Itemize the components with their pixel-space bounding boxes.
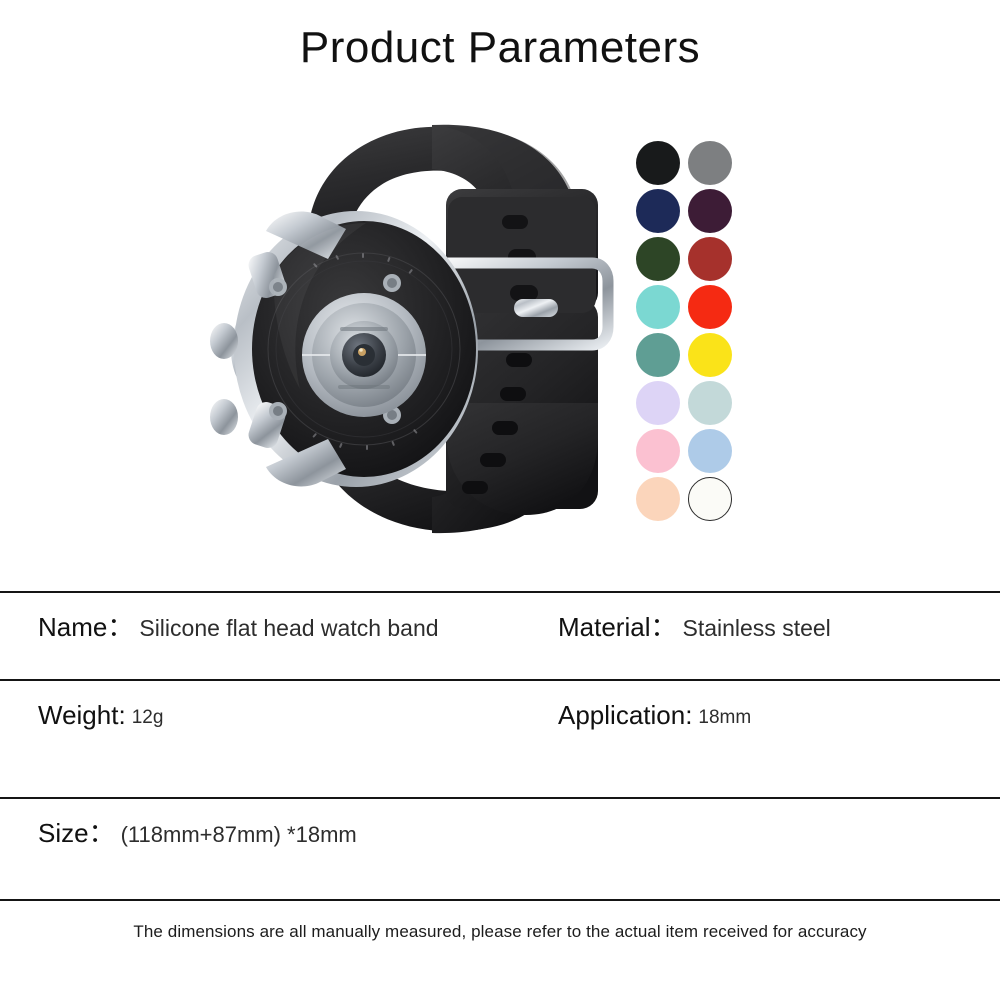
color-swatch-white[interactable]	[688, 477, 732, 521]
color-swatch-light-blue[interactable]	[688, 429, 732, 473]
spec-row: Size： (118mm+87mm) *18mm	[0, 817, 1000, 897]
color-swatch-lavender[interactable]	[636, 381, 680, 425]
color-swatch-turquoise[interactable]	[636, 285, 680, 329]
color-swatch-gray[interactable]	[688, 141, 732, 185]
color-swatch-dark-green[interactable]	[636, 237, 680, 281]
spec-label-name: Name：	[38, 611, 133, 644]
smartwatch-with-silicone-band-icon	[196, 103, 626, 553]
spec-value-name: Silicone flat head watch band	[139, 611, 438, 644]
spec-row: Name： Silicone flat head watch band Mate…	[0, 611, 1000, 677]
color-swatch-peach[interactable]	[636, 477, 680, 521]
color-swatch-bright-red[interactable]	[688, 285, 732, 329]
spec-table-divider-row2	[0, 797, 1000, 799]
color-swatch-dark-red[interactable]	[688, 237, 732, 281]
spec-value-weight: 12g	[132, 699, 164, 731]
spec-cell-application: Application: 18mm	[548, 699, 1000, 795]
spec-value-material: Stainless steel	[682, 611, 830, 644]
color-swatch-dark-purple[interactable]	[688, 189, 732, 233]
page-title: Product Parameters	[0, 22, 1000, 75]
spec-table-divider-row1	[0, 679, 1000, 681]
spec-cell-name: Name： Silicone flat head watch band	[0, 611, 548, 677]
color-swatch-grid	[636, 141, 736, 521]
color-swatch-pale-blue[interactable]	[688, 381, 732, 425]
color-swatch-teal[interactable]	[636, 333, 680, 377]
spec-row: Weight: 12g Application: 18mm	[0, 699, 1000, 795]
spec-value-application: 18mm	[698, 699, 751, 731]
spec-table-divider-top	[0, 591, 1000, 593]
spec-cell-material: Material： Stainless steel	[548, 611, 1000, 677]
spec-cell-weight: Weight: 12g	[0, 699, 548, 795]
color-swatch-pink[interactable]	[636, 429, 680, 473]
color-swatch-navy-blue[interactable]	[636, 189, 680, 233]
spec-table-divider-bottom	[0, 899, 1000, 901]
spec-cell-size: Size： (118mm+87mm) *18mm	[0, 817, 548, 897]
color-swatch-black[interactable]	[636, 141, 680, 185]
spec-label-weight: Weight:	[38, 699, 126, 732]
spec-value-size: (118mm+87mm) *18mm	[121, 817, 357, 850]
spec-label-size: Size：	[38, 817, 115, 850]
color-swatch-yellow[interactable]	[688, 333, 732, 377]
product-hero	[0, 95, 1000, 565]
spec-label-material: Material：	[558, 611, 676, 644]
measurement-disclaimer: The dimensions are all manually measured…	[0, 922, 1000, 942]
spec-label-application: Application:	[558, 699, 692, 732]
